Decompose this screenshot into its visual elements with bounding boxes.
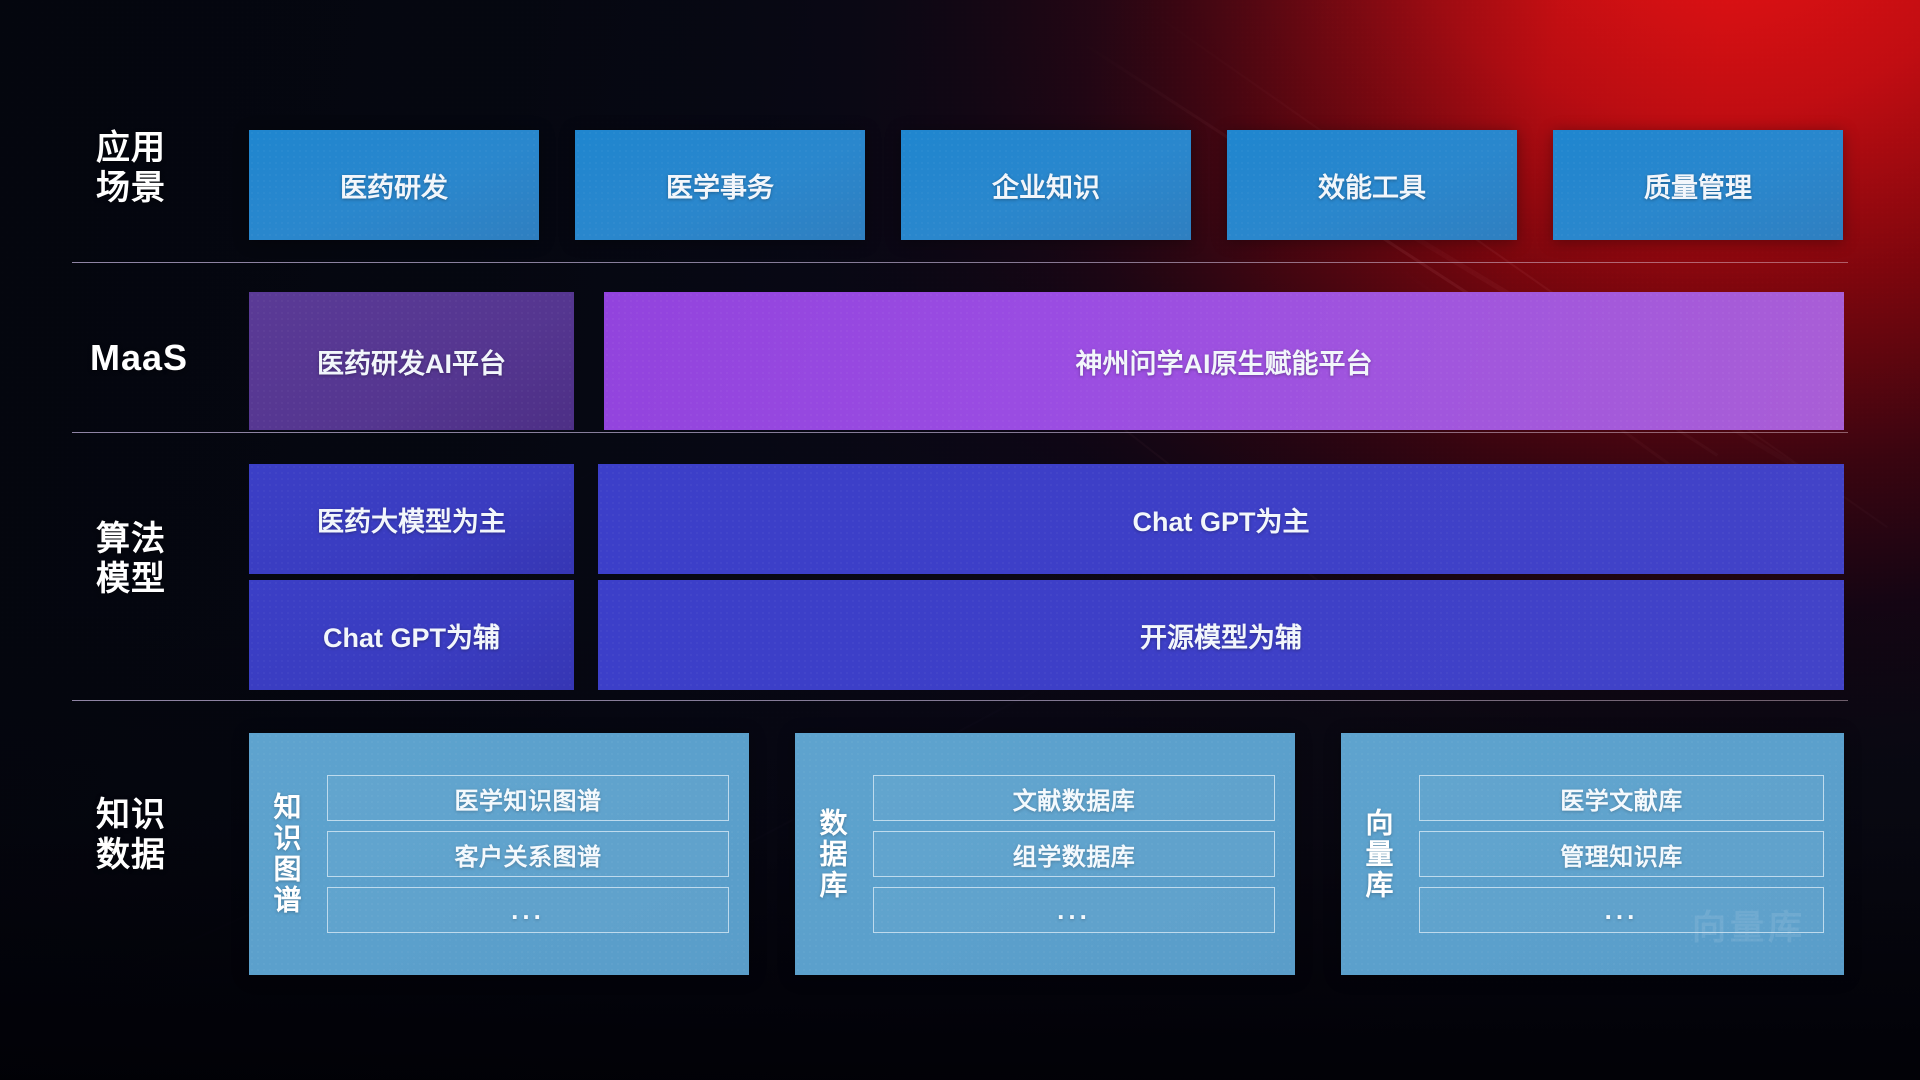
- knowledge-item[interactable]: 组学数据库: [873, 831, 1275, 877]
- app-scenario-card-1[interactable]: 医药研发: [249, 130, 539, 240]
- divider-row-3: [72, 700, 1848, 701]
- knowledge-item[interactable]: 医学文献库: [1419, 775, 1824, 821]
- knowledge-panel-items-vector-store: 医学文献库 管理知识库 ...: [1415, 733, 1844, 975]
- maas-label-shenzhou-platform: 神州问学AI原生赋能平台: [1076, 342, 1373, 381]
- knowledge-item-more[interactable]: ...: [873, 887, 1275, 933]
- maas-card-shenzhou-platform[interactable]: 神州问学AI原生赋能平台: [604, 292, 1844, 430]
- algo-label-pharma-model-primary: 医药大模型为主: [317, 500, 506, 539]
- slide-canvas: 应用 场景 医药研发 医学事务 企业知识 效能工具 质量管理 MaaS 医药研发…: [0, 0, 1920, 1080]
- knowledge-panel-items-database: 文献数据库 组学数据库 ...: [869, 733, 1295, 975]
- app-scenario-label-4: 效能工具: [1318, 166, 1426, 205]
- app-scenario-card-5[interactable]: 质量管理: [1553, 130, 1843, 240]
- knowledge-panel-database[interactable]: 数据库 文献数据库 组学数据库 ...: [795, 733, 1295, 975]
- app-scenario-label-3: 企业知识: [992, 166, 1100, 205]
- knowledge-item-more[interactable]: ...: [1419, 887, 1824, 933]
- app-scenario-card-4[interactable]: 效能工具: [1227, 130, 1517, 240]
- divider-row-1: [72, 262, 1848, 263]
- algo-label-chatgpt-secondary: Chat GPT为辅: [323, 616, 500, 655]
- row-label-algorithm-model: 算法 模型: [96, 519, 216, 599]
- divider-row-2: [72, 432, 1848, 433]
- algo-card-opensource-secondary[interactable]: 开源模型为辅: [598, 580, 1844, 690]
- knowledge-panel-knowledge-graph[interactable]: 知识图谱 医学知识图谱 客户关系图谱 ...: [249, 733, 749, 975]
- algo-card-chatgpt-primary[interactable]: Chat GPT为主: [598, 464, 1844, 574]
- knowledge-item[interactable]: 文献数据库: [873, 775, 1275, 821]
- row-label-application-scenario: 应用 场景: [96, 128, 216, 208]
- knowledge-panel-items-knowledge-graph: 医学知识图谱 客户关系图谱 ...: [323, 733, 749, 975]
- knowledge-panel-label-vector-store: 向量库: [1341, 733, 1415, 975]
- algo-card-chatgpt-secondary[interactable]: Chat GPT为辅: [249, 580, 574, 690]
- algo-card-pharma-model-primary[interactable]: 医药大模型为主: [249, 464, 574, 574]
- maas-label-pharma-ai-platform: 医药研发AI平台: [317, 342, 506, 381]
- knowledge-item[interactable]: 管理知识库: [1419, 831, 1824, 877]
- knowledge-item-more[interactable]: ...: [327, 887, 729, 933]
- knowledge-item[interactable]: 医学知识图谱: [327, 775, 729, 821]
- knowledge-item[interactable]: 客户关系图谱: [327, 831, 729, 877]
- app-scenario-label-5: 质量管理: [1644, 166, 1752, 205]
- app-scenario-card-3[interactable]: 企业知识: [901, 130, 1191, 240]
- app-scenario-label-1: 医药研发: [340, 166, 448, 205]
- knowledge-panel-label-database: 数据库: [795, 733, 869, 975]
- algo-label-chatgpt-primary: Chat GPT为主: [1132, 500, 1309, 539]
- knowledge-panel-label-knowledge-graph: 知识图谱: [249, 733, 323, 975]
- app-scenario-label-2: 医学事务: [666, 166, 774, 205]
- app-scenario-card-2[interactable]: 医学事务: [575, 130, 865, 240]
- maas-card-pharma-ai-platform[interactable]: 医药研发AI平台: [249, 292, 574, 430]
- row-label-knowledge-data: 知识 数据: [96, 795, 216, 875]
- knowledge-panel-vector-store[interactable]: 向量库 向量库 医学文献库 管理知识库 ...: [1341, 733, 1844, 975]
- algo-label-opensource-secondary: 开源模型为辅: [1140, 616, 1302, 655]
- row-label-maas: MaaS: [90, 337, 240, 379]
